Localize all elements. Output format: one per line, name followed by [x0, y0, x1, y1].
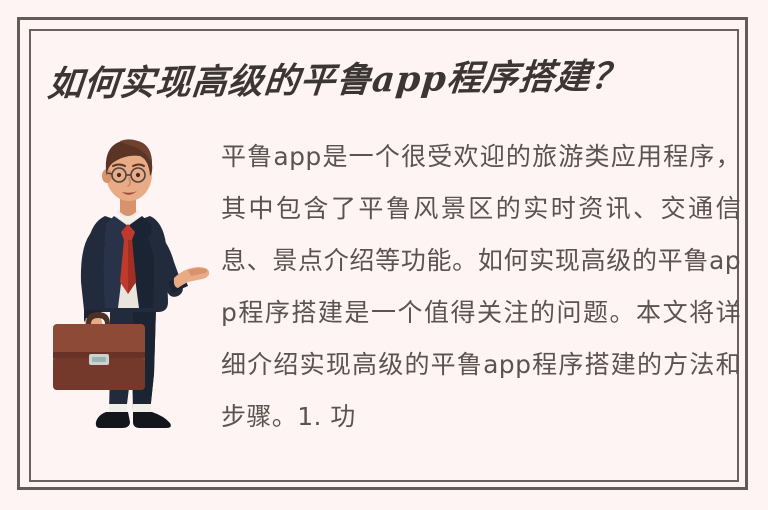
eye-left-icon: [117, 173, 121, 177]
shoe-left-icon: [96, 412, 130, 428]
article-title: 如何实现高级的平鲁app程序搭建？: [46, 47, 712, 107]
eye-right-icon: [136, 173, 140, 177]
article-body: 平鲁app是一个很受欢迎的旅游类应用程序，其中包含了平鲁风景区的实时资讯、交通信…: [221, 131, 741, 443]
shoe-right-icon: [133, 412, 171, 428]
article-card: 如何实现高级的平鲁app程序搭建？ 平鲁app是一个很受欢迎的旅游类应用程序，其…: [0, 0, 768, 510]
businessman-illustration: [48, 112, 218, 432]
